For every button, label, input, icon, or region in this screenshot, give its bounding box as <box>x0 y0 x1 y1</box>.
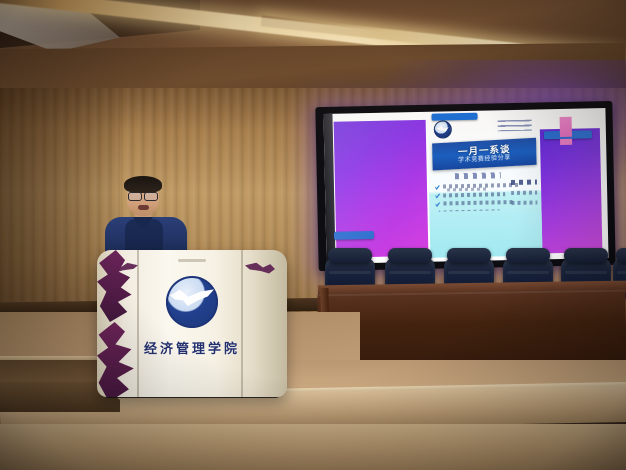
glasses-icon <box>128 192 158 199</box>
check-icon <box>435 202 440 207</box>
pink-marker-overlay <box>560 117 572 137</box>
chair-headrest <box>616 248 626 263</box>
chair-headrest <box>328 248 372 263</box>
slide-title-banner: 一月一系谈 学术竞赛经验分享 <box>432 138 536 171</box>
slide-column-value <box>511 191 537 196</box>
check-icon <box>435 185 440 190</box>
chair-headrest <box>506 248 550 263</box>
cloud-wave-ornament-icon <box>97 322 137 397</box>
chair-headrest <box>564 248 608 263</box>
slide-content: 一月一系谈 学术竞赛经验分享 <box>427 111 542 257</box>
slide-bird-emblem-icon <box>434 120 452 138</box>
cloud-wave-ornament-icon <box>97 250 133 322</box>
speaker-hair <box>124 176 162 193</box>
podium-top-slot <box>178 259 206 262</box>
lecture-hall-photo: 一月一系谈 学术竞赛经验分享 <box>0 0 626 470</box>
check-icon <box>435 194 440 199</box>
widget-left-label <box>334 231 374 232</box>
chair-headrest <box>388 248 432 263</box>
list-item-text <box>443 192 505 197</box>
chair-headrest <box>447 248 491 263</box>
slide-table-header <box>455 172 501 179</box>
screen-display-area: 一月一系谈 学术竞赛经验分享 <box>323 108 608 264</box>
presentation-widget-left[interactable] <box>334 231 374 240</box>
podium-panel-seam-left <box>137 250 139 397</box>
slide-column-heading <box>511 180 537 186</box>
podium-panel-seam-right <box>241 250 243 397</box>
podium-org-name: 经济管理学院 <box>97 338 287 357</box>
slide-org-name-text <box>498 120 532 132</box>
speaker-mouth <box>138 205 149 210</box>
presentation-toolbar-chip[interactable] <box>431 113 477 121</box>
list-item-text <box>443 200 515 206</box>
podium: 经济管理学院 <box>97 250 287 397</box>
pink-marker-overlay-secondary <box>560 139 572 145</box>
auditorium-floor <box>0 424 626 470</box>
slide-column-value <box>511 200 537 205</box>
toolbar-chip-label <box>431 113 477 114</box>
cloud-wave-ornament-icon <box>245 262 275 274</box>
projection-screen: 一月一系谈 学术竞赛经验分享 <box>315 101 615 271</box>
